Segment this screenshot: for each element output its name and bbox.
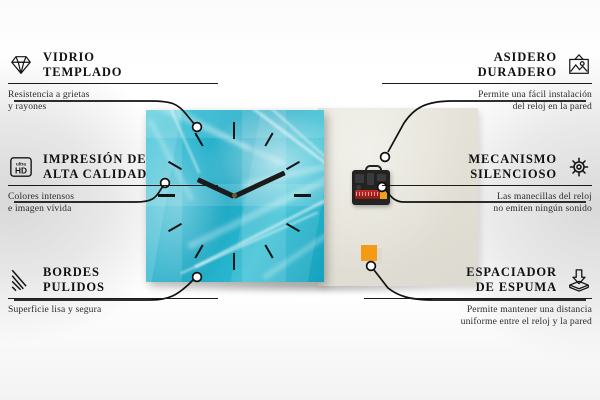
clock-tick bbox=[294, 194, 311, 197]
clock-tick bbox=[233, 122, 235, 139]
foam-spacer-shadow bbox=[377, 248, 382, 264]
feature-title-line2: SILENCIOSO bbox=[470, 167, 557, 181]
feature-mecanismo-silencioso: MECANISMO SILENCIOSO Las manecillas del … bbox=[382, 152, 592, 214]
feature-title-line1: MECANISMO bbox=[468, 152, 557, 166]
feature-title-line2: TEMPLADO bbox=[43, 65, 122, 79]
feature-divider bbox=[382, 185, 592, 186]
feature-bordes-pulidos: BORDES PULIDOS Superficie lisa y segura bbox=[8, 265, 218, 316]
feature-sub-line1: Permite una fácil instalación bbox=[478, 89, 592, 100]
feature-title-line2: ALTA CALIDAD bbox=[43, 167, 147, 181]
feature-vidrio-templado: VIDRIO TEMPLADO Resistencia a grietas y … bbox=[8, 50, 218, 112]
feature-title-line1: BORDES bbox=[43, 265, 100, 279]
diamond-icon bbox=[8, 53, 34, 77]
svg-text:HD: HD bbox=[15, 165, 27, 175]
feature-sub-line2: y rayones bbox=[8, 101, 46, 112]
clock-tick bbox=[233, 253, 235, 270]
feature-sub-line2: uniforme entre el reloj y la pared bbox=[461, 316, 592, 327]
feature-sub-line1: Resistencia a grietas bbox=[8, 89, 89, 100]
infographic-canvas: VIDRIO TEMPLADO Resistencia a grietas y … bbox=[0, 0, 600, 400]
gear-icon bbox=[566, 155, 592, 179]
ultra-hd-icon: ultra HD bbox=[8, 155, 34, 179]
battery-label bbox=[356, 192, 378, 196]
feature-divider bbox=[8, 298, 218, 299]
feature-sub-line1: Las manecillas del reloj bbox=[497, 191, 592, 202]
feature-sub-line2: no emiten ningún sonido bbox=[493, 203, 592, 214]
feature-title-line1: ASIDERO bbox=[494, 50, 557, 64]
feature-divider bbox=[8, 83, 218, 84]
foam-spacer bbox=[361, 245, 377, 261]
feature-title-line1: IMPRESIÓN DE bbox=[43, 152, 147, 166]
clock-center-pin bbox=[232, 193, 237, 198]
feature-sub-line2: del reloj en la pared bbox=[513, 101, 592, 112]
feature-title-line1: ESPACIADOR bbox=[466, 265, 557, 279]
feature-title-line2: DE ESPUMA bbox=[476, 280, 557, 294]
feature-sub-line1: Permite mantener una distancia bbox=[467, 304, 592, 315]
feature-sub-line1: Superficie lisa y segura bbox=[8, 304, 101, 315]
foam-spacer-icon bbox=[566, 268, 592, 292]
feature-sub-line2: e imagen vívida bbox=[8, 203, 72, 214]
feature-title-line2: PULIDOS bbox=[43, 280, 105, 294]
hanging-frame-icon bbox=[566, 53, 592, 77]
feature-divider bbox=[8, 185, 218, 186]
polished-edges-icon bbox=[8, 268, 34, 292]
feature-divider bbox=[382, 83, 592, 84]
feature-asidero-duradero: ASIDERO DURADERO Permite una fácil insta… bbox=[382, 50, 592, 112]
feature-divider bbox=[364, 298, 592, 299]
feature-impresion-alta-calidad: ultra HD IMPRESIÓN DE ALTA CALIDAD Color… bbox=[8, 152, 218, 214]
feature-title-line2: DURADERO bbox=[478, 65, 557, 79]
feature-title-line1: VIDRIO bbox=[43, 50, 95, 64]
feature-espaciador-de-espuma: ESPACIADOR DE ESPUMA Permite mantener un… bbox=[364, 265, 592, 327]
feature-sub-line1: Colores intensos bbox=[8, 191, 74, 202]
